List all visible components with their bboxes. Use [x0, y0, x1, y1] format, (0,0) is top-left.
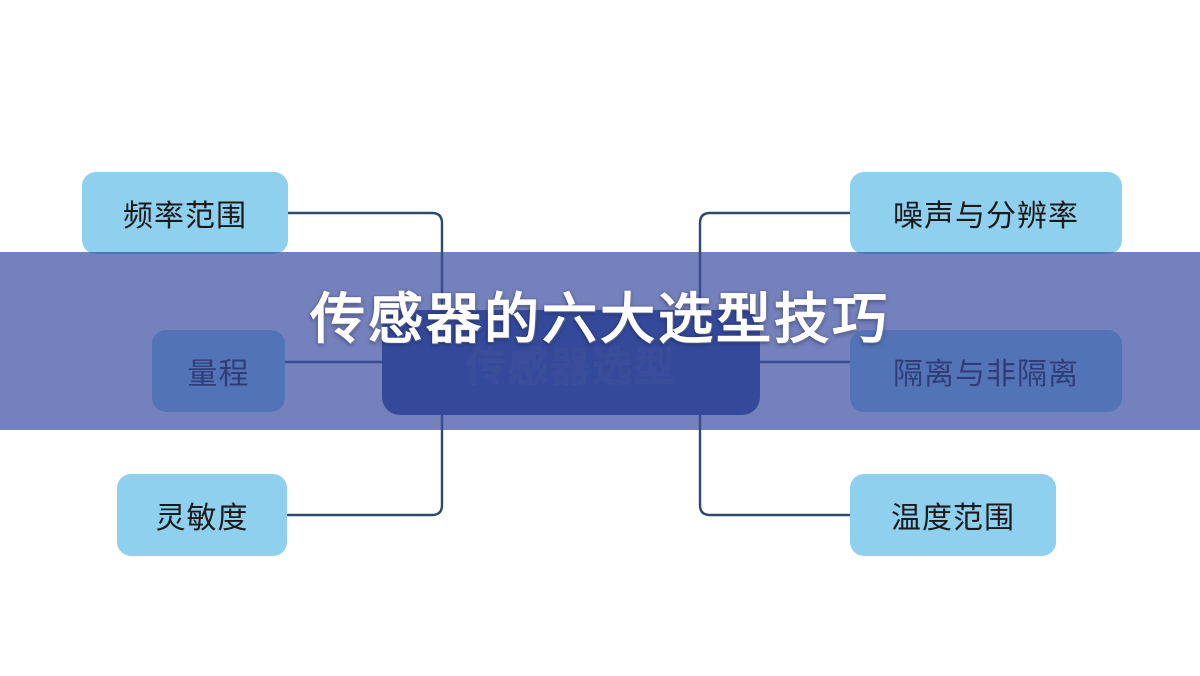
node-label: 量程 [188, 349, 250, 393]
node-label: 噪声与分辨率 [893, 191, 1079, 235]
mindmap-center-node[interactable]: 传感器选型 [382, 310, 760, 415]
node-label: 温度范围 [891, 493, 1015, 537]
node-label: 频率范围 [123, 191, 247, 235]
mindmap-node-temperature-range[interactable]: 温度范围 [850, 474, 1056, 556]
mindmap-node-noise-resolution[interactable]: 噪声与分辨率 [850, 172, 1122, 254]
node-label: 隔离与非隔离 [893, 349, 1079, 393]
node-label: 灵敏度 [156, 493, 249, 537]
mindmap-node-isolation[interactable]: 隔离与非隔离 [850, 330, 1122, 412]
mindmap-node-sensitivity[interactable]: 灵敏度 [117, 474, 287, 556]
connector-freq [288, 213, 442, 310]
mindmap-node-measuring-range[interactable]: 量程 [152, 330, 285, 412]
center-node-label: 传感器选型 [466, 334, 676, 392]
mindmap-diagram: 频率范围 量程 灵敏度 噪声与分辨率 隔离与非隔离 温度范围 传感器选型 [0, 0, 1200, 676]
mindmap-node-frequency-range[interactable]: 频率范围 [82, 172, 288, 254]
screenshot-canvas: 频率范围 量程 灵敏度 噪声与分辨率 隔离与非隔离 温度范围 传感器选型 传感器… [0, 0, 1200, 676]
connector-noise [700, 213, 850, 310]
connector-sens [288, 415, 442, 515]
connector-temp [700, 415, 850, 515]
